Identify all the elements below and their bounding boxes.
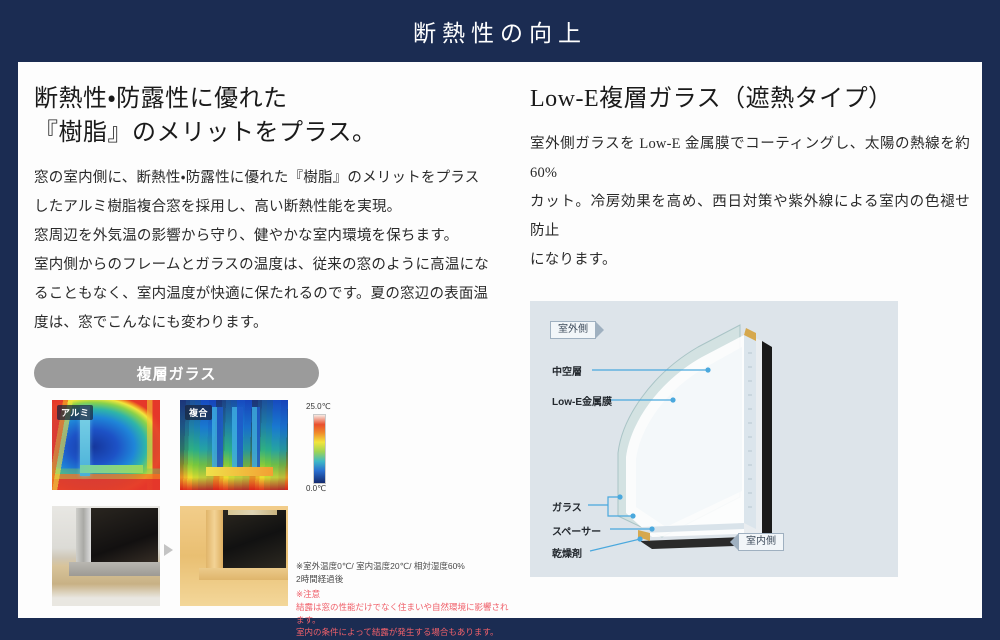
diagram-label-glass: ガラス — [552, 499, 582, 514]
thermal-note-line-2: 2時間経過後 — [296, 573, 508, 586]
thermal-condition-note: ※室外温度0℃/ 室内温度20℃/ 相対湿度60% 2時間経過後 — [296, 560, 508, 586]
temperature-scale-max: 25.0℃ — [306, 402, 331, 411]
thermal-note-line-1: ※室外温度0℃/ 室内温度20℃/ 相対湿度60% — [296, 560, 508, 573]
left-title-line-1: 断熱性・防露性に優れた — [34, 82, 504, 116]
left-column: 断熱性・防露性に優れた 『樹脂』のメリットをプラス。 窓の室内側に、断熱性・防露… — [34, 82, 504, 626]
diagram-label-desiccant: 乾燥剤 — [552, 545, 582, 560]
photo-aluminum-window — [52, 506, 160, 606]
diagram-label-lowe-film: Low-E金属膜 — [552, 393, 612, 408]
thermal-warning-heading: ※注意 — [296, 588, 511, 601]
left-body-line-5: ることもなく、室内温度が快適に保たれるのです。夏の窓辺の表面温 — [34, 280, 504, 309]
page-header: 断熱性の向上 — [0, 0, 1000, 62]
thermal-label-aluminum: アルミ — [57, 405, 93, 420]
thermal-label-composite: 複合 — [185, 405, 212, 420]
left-body-line-3: 窓周辺を外気温の影響から守り、健やかな室内環境を保ちます。 — [34, 222, 504, 251]
badge-interior-label: 室内側 — [738, 533, 784, 551]
photo-composite-rail — [206, 510, 223, 576]
left-section-title: 断熱性・防露性に優れた 『樹脂』のメリットをプラス。 — [34, 82, 504, 150]
chevron-right-icon — [595, 321, 604, 339]
thermal-warning-line-2: 結露は窓の性能だけでなく住まいや自然環境に影響されます。 — [296, 601, 511, 627]
temperature-scale-bar — [313, 414, 326, 484]
left-body-line-2: したアルミ樹脂複合窓を採用し、高い断熱性能を実現。 — [34, 193, 504, 222]
right-body-line-2: カット。冷房効果を高め、西日対策や紫外線による室内の色褪せ防止 — [530, 188, 970, 246]
page-root: 断熱性の向上 断熱性・防露性に優れた 『樹脂』のメリットをプラス。 窓の室内側に… — [0, 0, 1000, 640]
unit-black-edge — [762, 341, 772, 551]
badge-interior-side: 室内側 — [730, 533, 784, 551]
double-glazing-pill: 複層ガラス — [34, 358, 319, 388]
right-column: Low-E複層ガラス（遮熱タイプ） 室外側ガラスを Low-E 金属膜でコーティ… — [530, 82, 970, 577]
page-title: 断熱性の向上 — [413, 14, 587, 48]
arrow-right-icon — [164, 544, 173, 556]
photo-aluminum-glass — [89, 508, 158, 566]
photo-composite-window — [180, 506, 288, 606]
thermal-composite-sill — [206, 467, 273, 476]
left-body-line-1: 窓の室内側に、断熱性・防露性に優れた『樹脂』のメリットをプラス — [34, 164, 504, 193]
thermal-composite-frame — [212, 407, 260, 470]
right-body-line-3: になります。 — [530, 246, 970, 275]
photo-composite-sill — [199, 568, 288, 580]
right-body-text: 室外側ガラスを Low-E 金属膜でコーティングし、太陽の熱線を約 60% カッ… — [530, 130, 970, 275]
thermal-aluminum-sill — [80, 465, 143, 473]
badge-exterior-side: 室外側 — [550, 321, 604, 339]
photo-aluminum-wood-sill — [52, 572, 160, 594]
thermal-warning-note: ※注意 結露は窓の性能だけでなく住まいや自然環境に影響されます。 室内の条件によ… — [296, 588, 511, 639]
thermal-comparison-block: アルミ 複合 25.0℃ 0.0℃ — [34, 400, 504, 626]
thermal-image-aluminum: アルミ — [52, 400, 160, 490]
spacer-side — [744, 335, 756, 529]
thermal-warning-line-3: 室内の条件によって結露が発生する場合もあります。 — [296, 626, 511, 639]
left-title-line-2: 『樹脂』のメリットをプラス。 — [34, 116, 504, 150]
double-glazing-pill-label: 複層ガラス — [137, 363, 217, 384]
content-panel: 断熱性・防露性に優れた 『樹脂』のメリットをプラス。 窓の室内側に、断熱性・防露… — [18, 62, 982, 618]
temperature-scale: 25.0℃ 0.0℃ — [306, 400, 366, 495]
diagram-label-air-layer: 中空層 — [552, 363, 582, 378]
thermal-image-composite: 複合 — [180, 400, 288, 490]
left-body-line-6: 度は、窓でこんなにも変わります。 — [34, 309, 504, 338]
right-title-text: Low-E複層ガラス（遮熱タイプ） — [530, 82, 970, 116]
temperature-scale-min: 0.0℃ — [306, 484, 326, 493]
badge-exterior-label: 室外側 — [550, 321, 596, 339]
right-body-line-1: 室外側ガラスを Low-E 金属膜でコーティングし、太陽の熱線を約 60% — [530, 130, 970, 188]
diagram-label-spacer: スペーサー — [552, 523, 601, 538]
glass-cross-section-diagram: 室外側 室内側 中空層 Low-E金属膜 ガラス スペーサー 乾燥剤 — [530, 301, 898, 577]
photo-composite-highlight — [228, 510, 278, 515]
right-section-title: Low-E複層ガラス（遮熱タイプ） — [530, 82, 970, 116]
left-body-text: 窓の室内側に、断熱性・防露性に優れた『樹脂』のメリットをプラス したアルミ樹脂複… — [34, 164, 504, 338]
left-body-line-4: 室内側からのフレームとガラスの温度は、従来の窓のように高温にな — [34, 251, 504, 280]
photo-composite-glass — [223, 510, 286, 570]
